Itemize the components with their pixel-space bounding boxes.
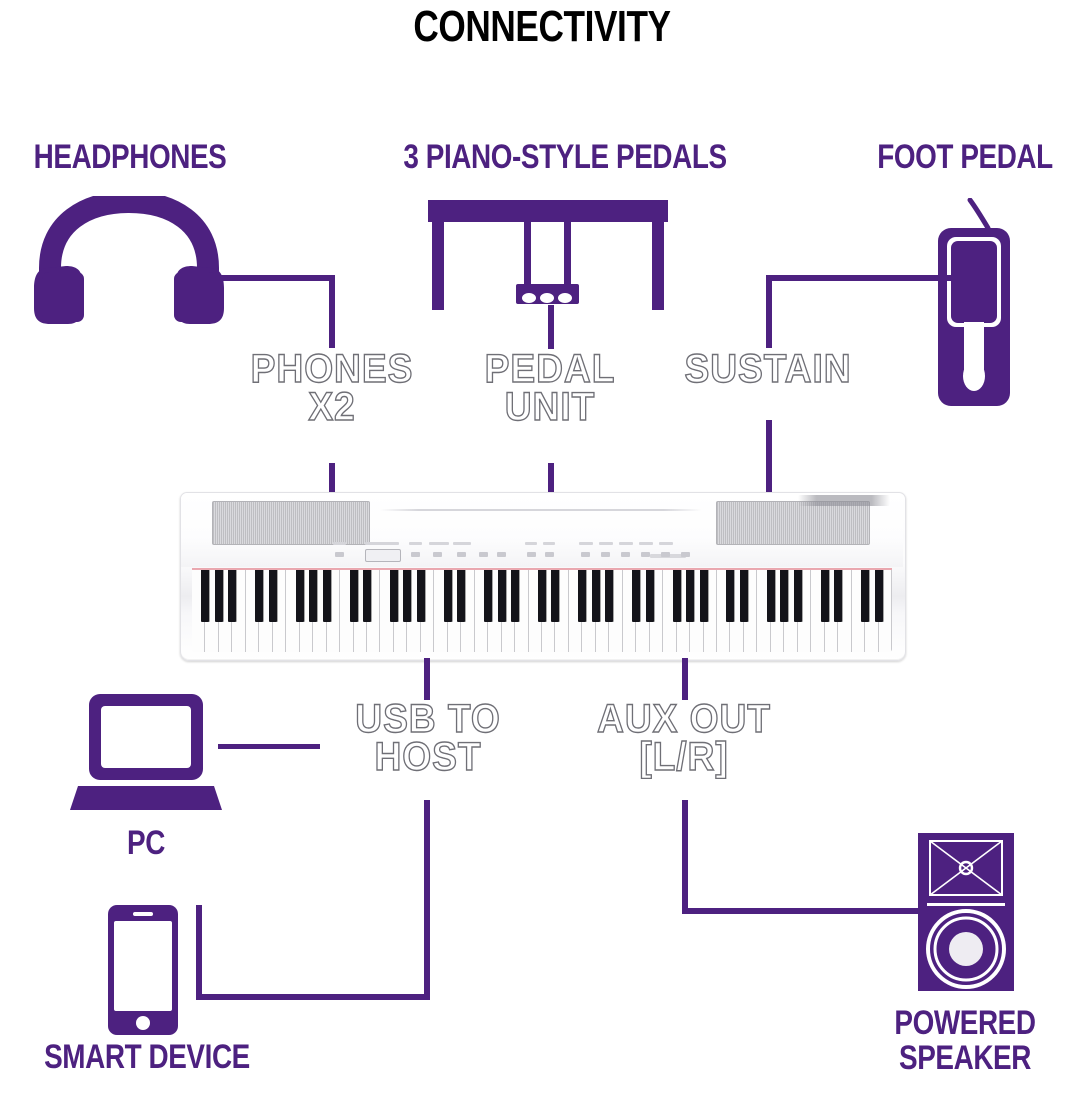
device-label-smart-device: SMART DEVICE	[20, 1040, 274, 1075]
black-key	[215, 570, 223, 622]
black-key	[592, 570, 600, 622]
keybed	[192, 568, 892, 652]
connector-footpedal-h	[766, 275, 951, 281]
black-key	[646, 570, 654, 622]
connector-keyboard-to-aux	[682, 658, 688, 700]
port-usb-line1: USB TO	[318, 700, 537, 738]
port-label-phones: PHONES X2	[222, 350, 441, 426]
connectivity-diagram: CONNECTIVITY HEADPHONES 3 PIANO-STYLE PE…	[0, 0, 1084, 1098]
black-key	[673, 570, 681, 622]
port-label-aux-out: AUX OUT [L/R]	[574, 700, 793, 776]
black-key	[821, 570, 829, 622]
digital-piano	[180, 492, 904, 659]
port-aux-line2: [L/R]	[574, 738, 793, 776]
connector-pc-h	[218, 744, 320, 749]
device-label-powered-speaker: POWERED SPEAKER	[867, 1006, 1062, 1075]
connector-headphones-h	[219, 275, 335, 281]
black-key	[578, 570, 586, 622]
device-label-headphones: HEADPHONES	[15, 140, 245, 175]
display-box	[365, 549, 401, 562]
black-key	[511, 570, 519, 622]
black-key	[861, 570, 869, 622]
laptop-icon	[70, 692, 222, 812]
black-key	[605, 570, 613, 622]
connector-footpedal-v	[766, 275, 772, 348]
speaker-grille-left	[212, 501, 370, 545]
port-label-usb-to-host: USB TO HOST	[318, 700, 537, 776]
foot-pedal-icon	[926, 198, 1036, 410]
black-key	[740, 570, 748, 622]
page-title: CONNECTIVITY	[108, 2, 975, 52]
speaker-icon	[918, 833, 1014, 991]
black-key	[780, 570, 788, 622]
black-key	[296, 570, 304, 622]
connector-smartdevice-h	[196, 994, 430, 1000]
port-label-pedal-unit: PEDAL UNIT	[451, 350, 648, 426]
speaker-grille-right	[716, 501, 870, 545]
black-key	[350, 570, 358, 622]
port-usb-line2: HOST	[318, 738, 537, 776]
port-sustain-line1: SUSTAIN	[658, 350, 877, 388]
control-panel	[335, 548, 615, 564]
connector-headphones-v	[329, 275, 335, 348]
port-pedal-line1: PEDAL	[451, 350, 648, 388]
connector-keyboard-to-usb	[424, 658, 430, 700]
port-phones-line1: PHONES	[222, 350, 441, 388]
black-key	[551, 570, 559, 622]
black-key	[700, 570, 708, 622]
headphones-icon	[34, 196, 224, 326]
black-key	[363, 570, 371, 622]
port-phones-line2: X2	[222, 388, 441, 426]
black-key	[201, 570, 209, 622]
device-label-pc: PC	[80, 826, 211, 861]
connector-aux-v	[682, 800, 688, 914]
port-pedal-line2: UNIT	[451, 388, 648, 426]
connector-smartdevice-v	[196, 905, 202, 1000]
black-key	[498, 570, 506, 622]
black-key	[875, 570, 883, 622]
connector-speaker-h	[682, 908, 923, 914]
yamaha-logo	[798, 495, 890, 506]
black-key	[444, 570, 452, 622]
black-key	[794, 570, 802, 622]
black-key	[417, 570, 425, 622]
port-aux-line1: AUX OUT	[574, 700, 793, 738]
black-key	[632, 570, 640, 622]
black-key	[323, 570, 331, 622]
speaker-label-line2: SPEAKER	[867, 1041, 1062, 1076]
black-key	[309, 570, 317, 622]
device-label-pedal-unit: 3 PIANO-STYLE PEDALS	[368, 140, 762, 175]
connector-pedalunit-v	[548, 305, 554, 349]
black-key	[726, 570, 734, 622]
connector-usb-v	[424, 800, 430, 1000]
pedal-unit-icon	[428, 200, 668, 310]
black-key	[269, 570, 277, 622]
black-key	[834, 570, 842, 622]
device-label-foot-pedal: FOOT PEDAL	[854, 140, 1075, 175]
black-key	[538, 570, 546, 622]
black-key	[255, 570, 263, 622]
speaker-label-line1: POWERED	[867, 1006, 1062, 1041]
smartphone-icon	[108, 905, 178, 1035]
black-key	[484, 570, 492, 622]
port-label-sustain: SUSTAIN	[658, 350, 877, 388]
black-key	[767, 570, 775, 622]
black-key	[403, 570, 411, 622]
black-key	[686, 570, 694, 622]
black-key	[457, 570, 465, 622]
connector-sustain-to-keyboard	[766, 420, 772, 496]
black-key	[228, 570, 236, 622]
black-key	[390, 570, 398, 622]
panel-seam	[380, 509, 702, 511]
